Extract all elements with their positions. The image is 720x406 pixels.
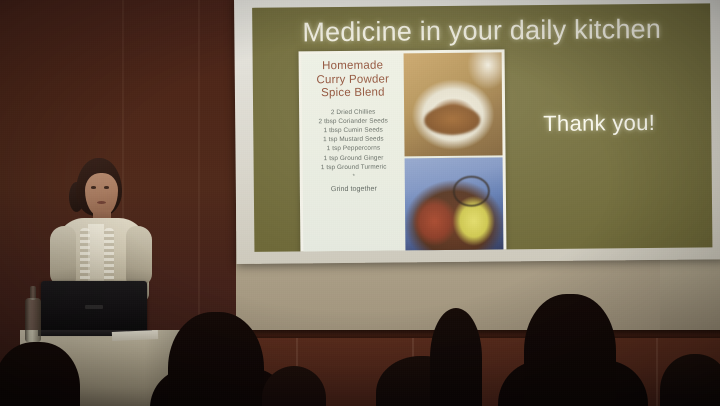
recipe-heading-line-1: Homemade — [304, 59, 402, 73]
bottle-body — [25, 298, 41, 342]
recipe-heading-line-3: Spice Blend — [304, 86, 402, 100]
recipe-card-body: Homemade Curry Powder Spice Blend 2 Drie… — [302, 52, 504, 251]
recipe-card: Homemade Curry Powder Spice Blend 2 Drie… — [299, 49, 507, 251]
ingredient-item: 2 tbsp Coriander Seeds — [304, 116, 402, 126]
spice-bowl-photo — [404, 52, 503, 155]
recipe-heading: Homemade Curry Powder Spice Blend — [304, 59, 402, 100]
audience-head — [430, 308, 482, 406]
slide-title: Medicine in your daily kitchen — [302, 14, 661, 48]
audience-head — [524, 294, 616, 406]
recipe-text-panel: Homemade Curry Powder Spice Blend 2 Drie… — [302, 53, 406, 251]
recipe-heading-line-2: Curry Powder — [304, 73, 402, 87]
recipe-photo-column — [404, 52, 504, 251]
water-bottle — [25, 286, 41, 342]
curry-dish-photo — [405, 157, 504, 252]
projected-slide: Medicine in your daily kitchen Thank you… — [252, 3, 712, 251]
thank-you-text: Thank you! — [543, 110, 655, 137]
audience-head — [168, 312, 264, 406]
laptop — [41, 281, 147, 333]
arm-left — [50, 226, 76, 286]
lecture-room-photograph: Medicine in your daily kitchen Thank you… — [0, 0, 720, 406]
projection-screen: Medicine in your daily kitchen Thank you… — [234, 0, 720, 264]
recipe-instruction: Grind together — [305, 182, 403, 194]
arm-right — [126, 226, 152, 286]
eye-right — [104, 186, 109, 189]
mouth — [97, 201, 106, 204]
laptop-lid-logo — [85, 305, 103, 309]
panel-seam — [656, 338, 658, 406]
recipe-separator: * — [305, 171, 403, 182]
eye-left — [91, 186, 96, 189]
ingredient-list: 2 Dried Chillies 2 tbsp Coriander Seeds … — [304, 107, 403, 172]
